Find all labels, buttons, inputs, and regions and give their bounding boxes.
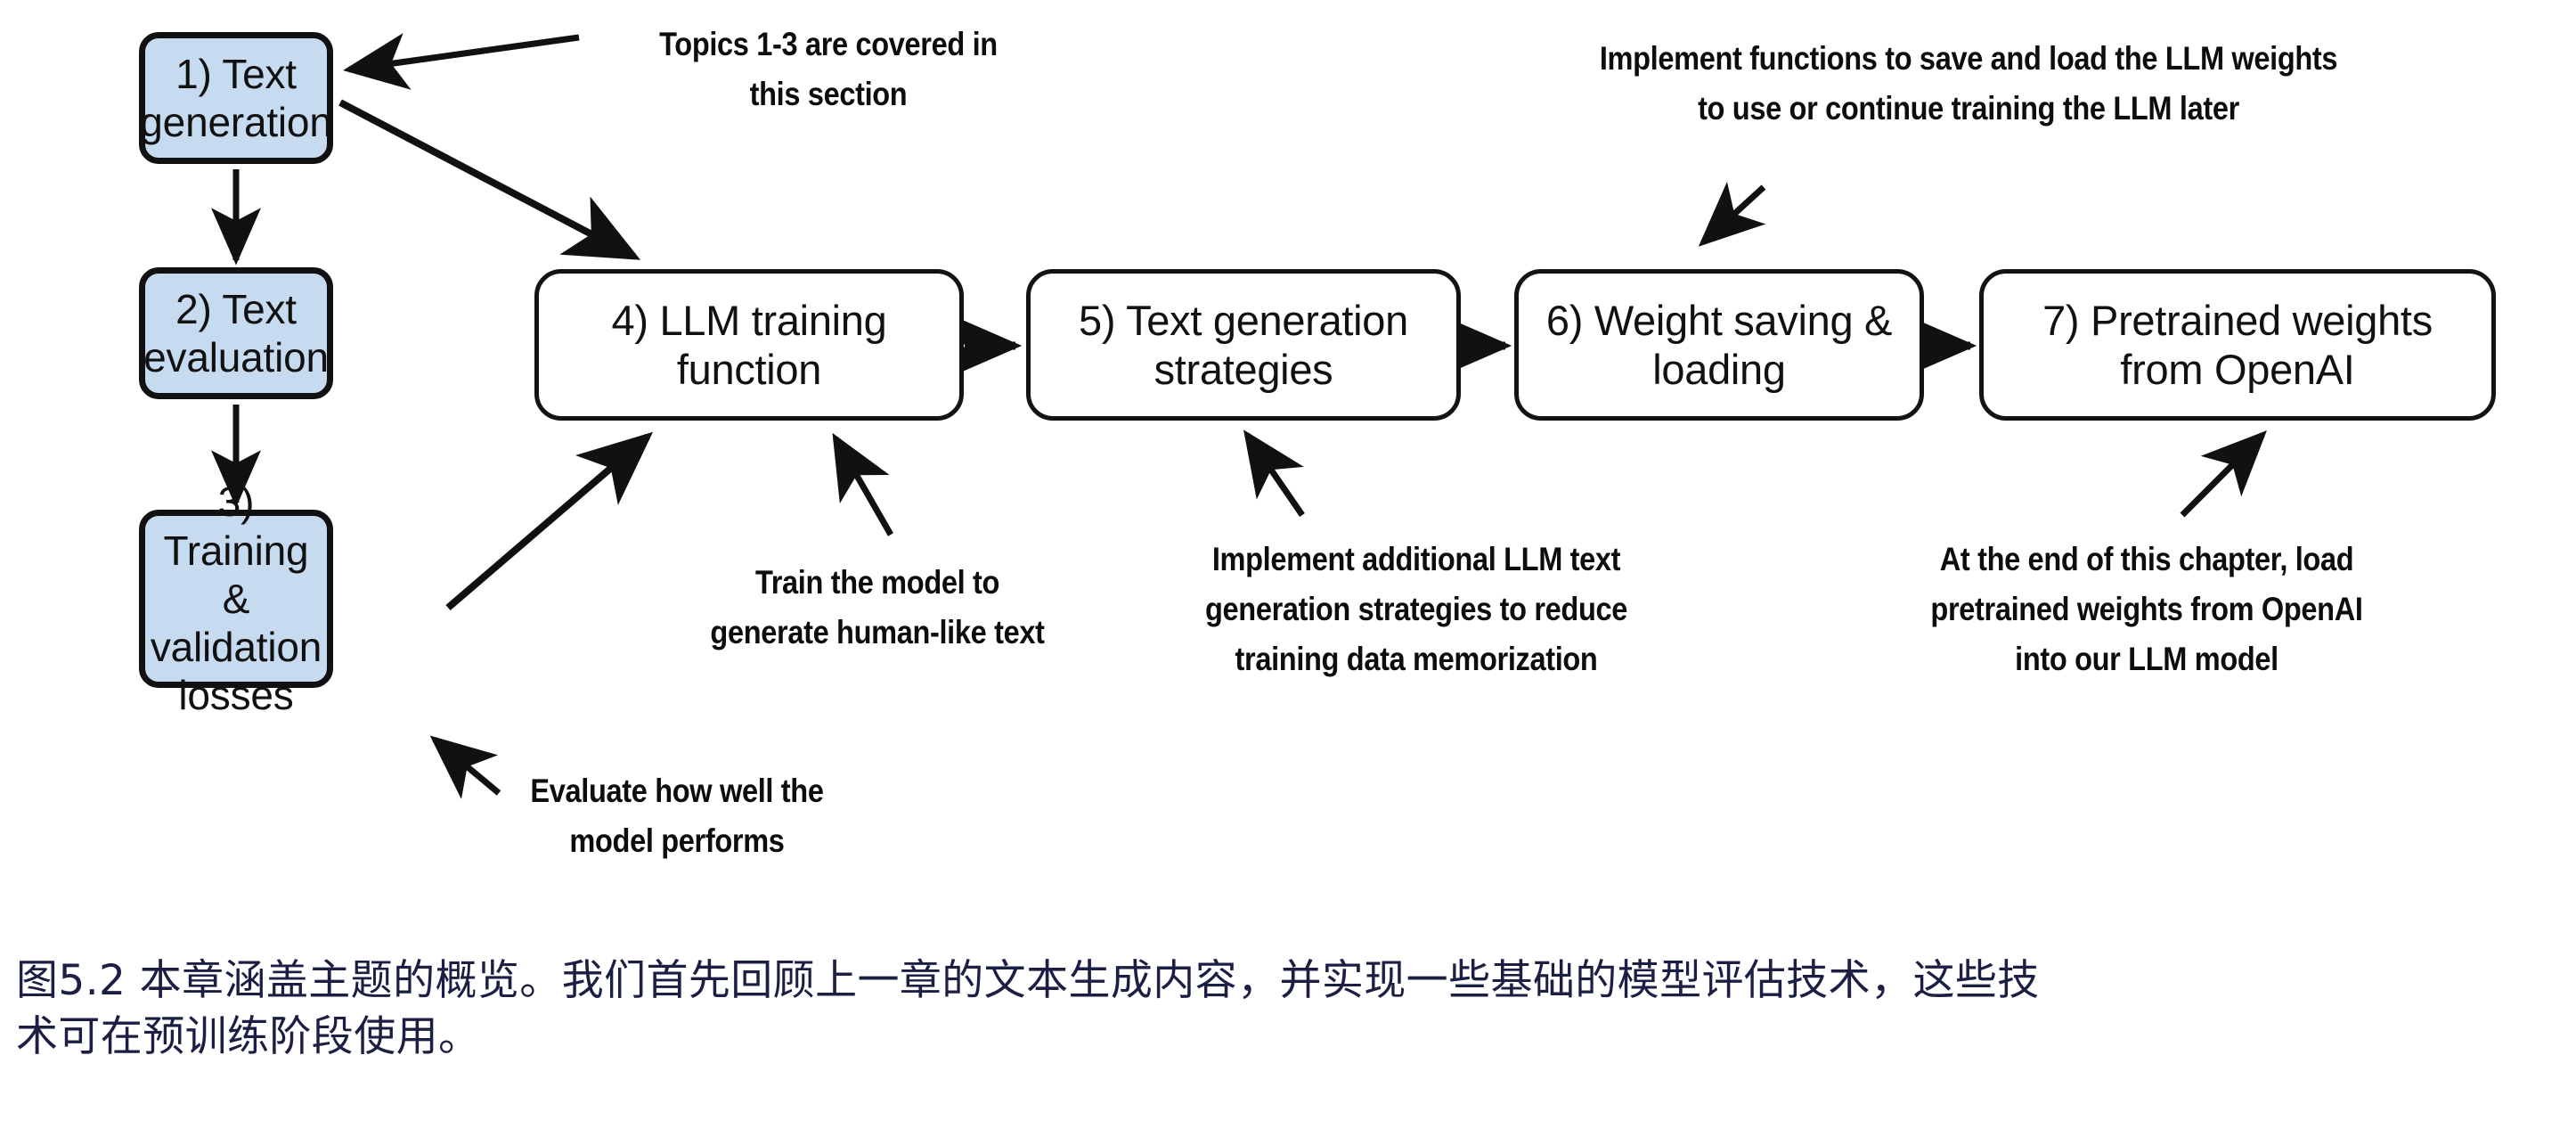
annotation-evaluate-model: Evaluate how well the model performs [458, 766, 897, 866]
annotation-topics-covered: Topics 1-3 are covered in this section [616, 20, 1039, 119]
annotation-save-load-weights: Implement functions to save and load the… [1506, 34, 2431, 134]
flow-node-weight-saving-loading[interactable]: 6) Weight saving & loading [1514, 269, 1924, 421]
arrow-note-openai-to-node7 [2182, 435, 2262, 515]
arrow-note-topics-to-node1 [349, 37, 579, 70]
annotation-train-model: Train the model to generate human-like t… [654, 558, 1101, 658]
arrow-note-strategies-to-node5 [1247, 435, 1302, 515]
arrow-node1-to-node4 [340, 102, 634, 257]
flow-node-text-generation-strategies[interactable]: 5) Text generation strategies [1026, 269, 1461, 421]
annotation-generation-strategies: Implement additional LLM text generation… [1134, 535, 1699, 685]
arrow-note-saveload-to-node6 [1703, 187, 1764, 242]
annotation-load-openai-weights: At the end of this chapter, load pretrai… [1864, 535, 2429, 685]
flow-node-pretrained-weights-openai[interactable]: 7) Pretrained weights from OpenAI [1979, 269, 2496, 421]
flow-node-text-generation[interactable]: 1) Text generation [139, 32, 333, 164]
figure-caption: 图5.2 本章涵盖主题的概览。我们首先回顾上一章的文本生成内容，并实现一些基础的… [16, 953, 2564, 1066]
flow-node-training-validation-losses[interactable]: 3) Training & validation losses [139, 510, 333, 688]
arrow-note-train-to-node4 [836, 438, 891, 535]
connector-layer [0, 0, 2576, 927]
arrow-node3-to-node4 [448, 437, 648, 608]
flow-node-llm-training-function[interactable]: 4) LLM training function [534, 269, 964, 421]
flow-node-text-evaluation[interactable]: 2) Text evaluation [139, 267, 333, 399]
diagram-canvas: 1) Text generation 2) Text evaluation 3)… [0, 0, 2576, 927]
